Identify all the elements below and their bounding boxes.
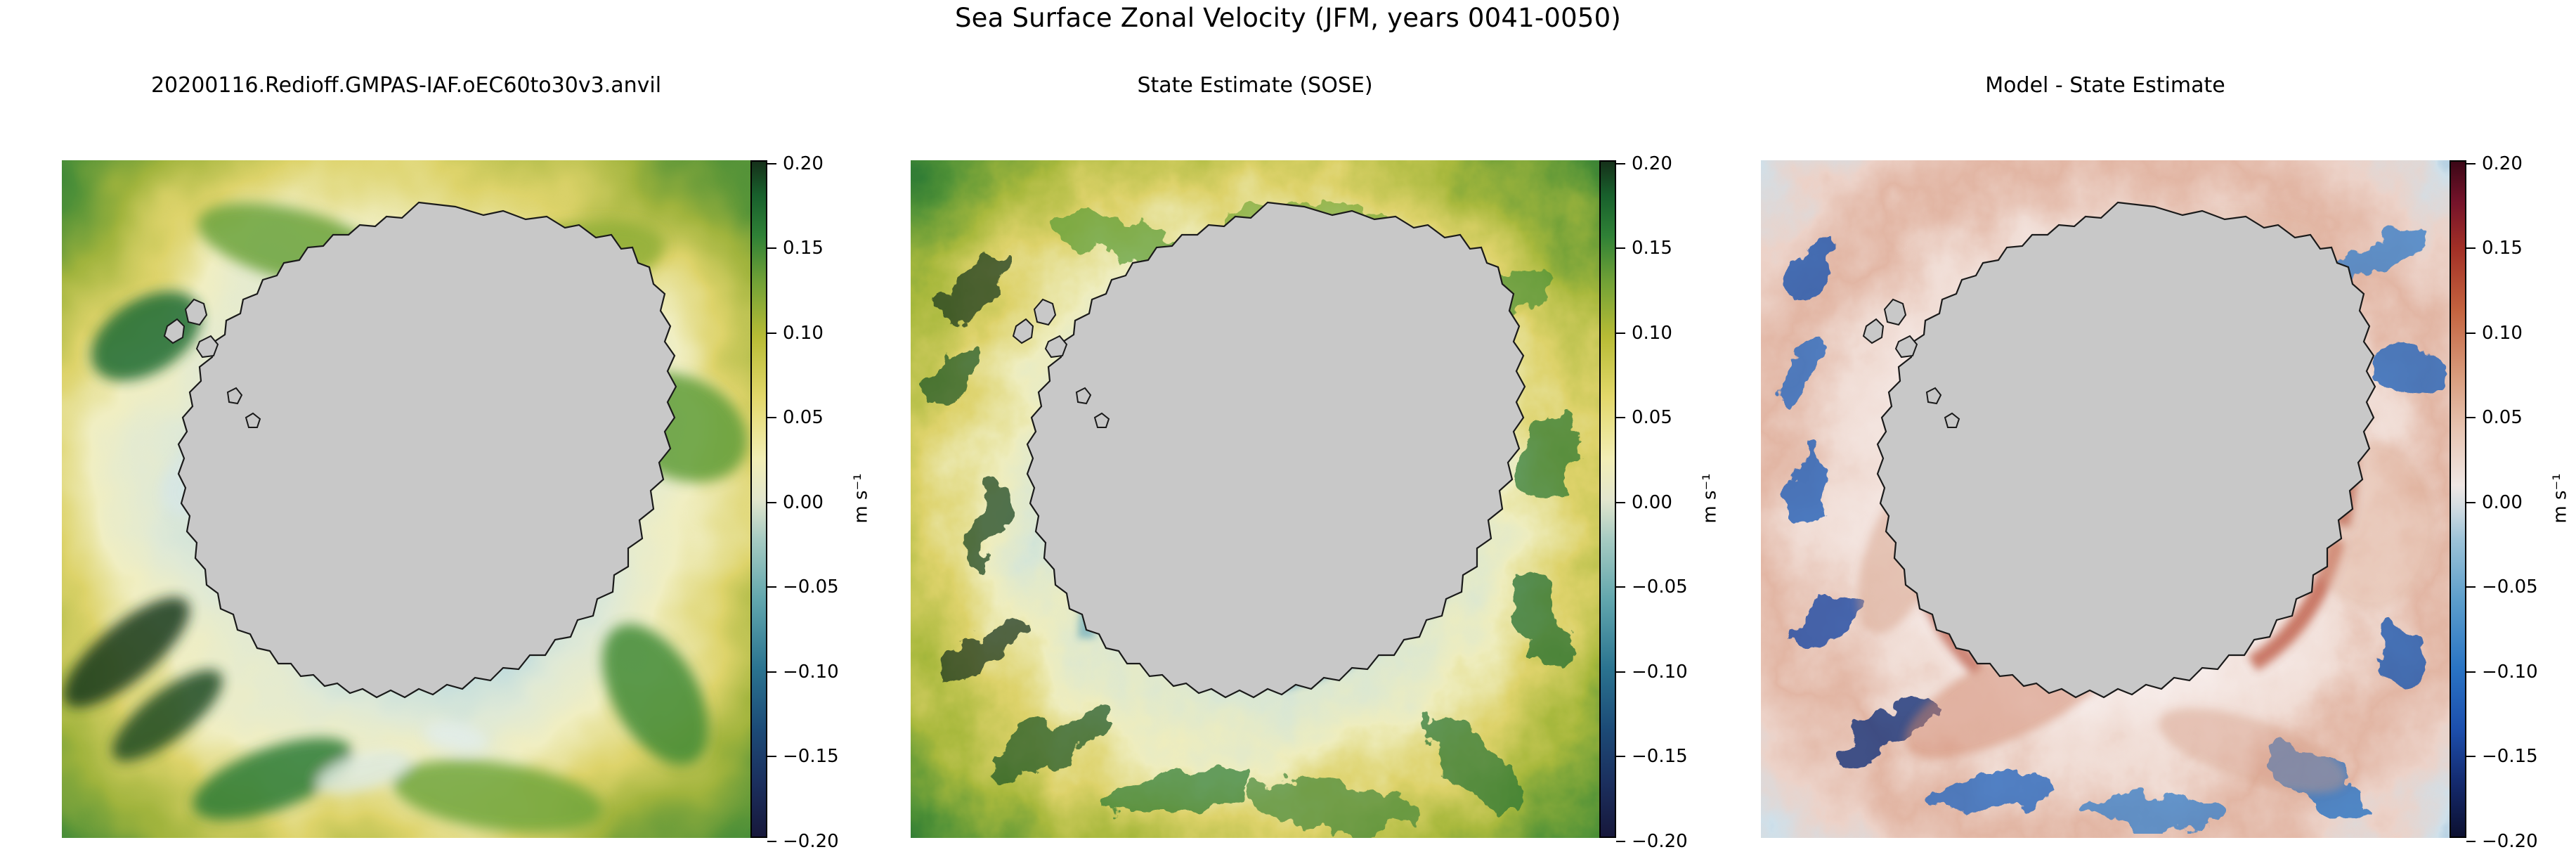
cbar-tick-diff-0: 0.20 [2466, 153, 2523, 174]
colorbar-unit-difference: m s⁻¹ [2550, 473, 2571, 523]
cbar-tick-diff-5: −0.05 [2466, 576, 2538, 598]
panel-title-difference: Model - State Estimate [1761, 73, 2450, 98]
cbar-tick-model-3: 0.05 [767, 407, 824, 428]
cbar-tick-diff-7: −0.15 [2466, 746, 2538, 767]
cbar-tick-sose-5: −0.05 [1616, 576, 1688, 598]
cbar-tick-sose-6: −0.10 [1616, 661, 1688, 683]
cbar-tick-sose-4: 0.00 [1616, 492, 1672, 513]
panel-title-state-estimate: State Estimate (SOSE) [911, 73, 1599, 98]
map-panel-difference[interactable] [1761, 160, 2450, 838]
cbar-tick-model-0: 0.20 [767, 153, 824, 174]
map-panel-model[interactable] [62, 160, 750, 838]
map-canvas-model [62, 160, 750, 838]
cbar-tick-sose-7: −0.15 [1616, 746, 1688, 767]
cbar-tick-model-7: −0.15 [767, 746, 839, 767]
cbar-tick-diff-6: −0.10 [2466, 661, 2538, 683]
colorbar-model[interactable] [750, 160, 767, 838]
cbar-tick-diff-2: 0.10 [2466, 323, 2523, 344]
cbar-tick-sose-8: −0.20 [1616, 831, 1688, 852]
cbar-tick-model-4: 0.00 [767, 492, 824, 513]
cbar-tick-diff-1: 0.15 [2466, 238, 2523, 259]
map-panel-state-estimate[interactable] [911, 160, 1599, 838]
cbar-tick-model-6: −0.10 [767, 661, 839, 683]
cbar-tick-model-5: −0.05 [767, 576, 839, 598]
colorbar-unit-state-estimate: m s⁻¹ [1700, 473, 1721, 523]
colorbar-difference[interactable] [2450, 160, 2466, 838]
cbar-tick-sose-0: 0.20 [1616, 153, 1672, 174]
colorbar-state-estimate[interactable] [1599, 160, 1616, 838]
cbar-tick-sose-3: 0.05 [1616, 407, 1672, 428]
cbar-tick-sose-1: 0.15 [1616, 238, 1672, 259]
cbar-tick-model-2: 0.10 [767, 323, 824, 344]
colorbar-unit-model: m s⁻¹ [851, 473, 872, 523]
cbar-tick-diff-8: −0.20 [2466, 831, 2538, 852]
panel-title-model: 20200116.Redioff.GMPAS-IAF.oEC60to30v3.a… [62, 73, 750, 98]
cbar-tick-model-8: −0.20 [767, 831, 839, 852]
colorbar-ticks-state-estimate: 0.20 0.15 0.10 0.05 0.00 −0.05 −0.10 −0.… [1616, 160, 1750, 838]
colorbar-ticks-model: 0.20 0.15 0.10 0.05 0.00 −0.05 −0.10 −0.… [767, 160, 901, 838]
cbar-tick-model-1: 0.15 [767, 238, 824, 259]
cbar-tick-sose-2: 0.10 [1616, 323, 1672, 344]
cbar-tick-diff-4: 0.00 [2466, 492, 2523, 513]
map-canvas-state-estimate [911, 160, 1599, 838]
cbar-tick-diff-3: 0.05 [2466, 407, 2523, 428]
figure-suptitle: Sea Surface Zonal Velocity (JFM, years 0… [0, 3, 2576, 33]
map-canvas-difference [1761, 160, 2450, 838]
